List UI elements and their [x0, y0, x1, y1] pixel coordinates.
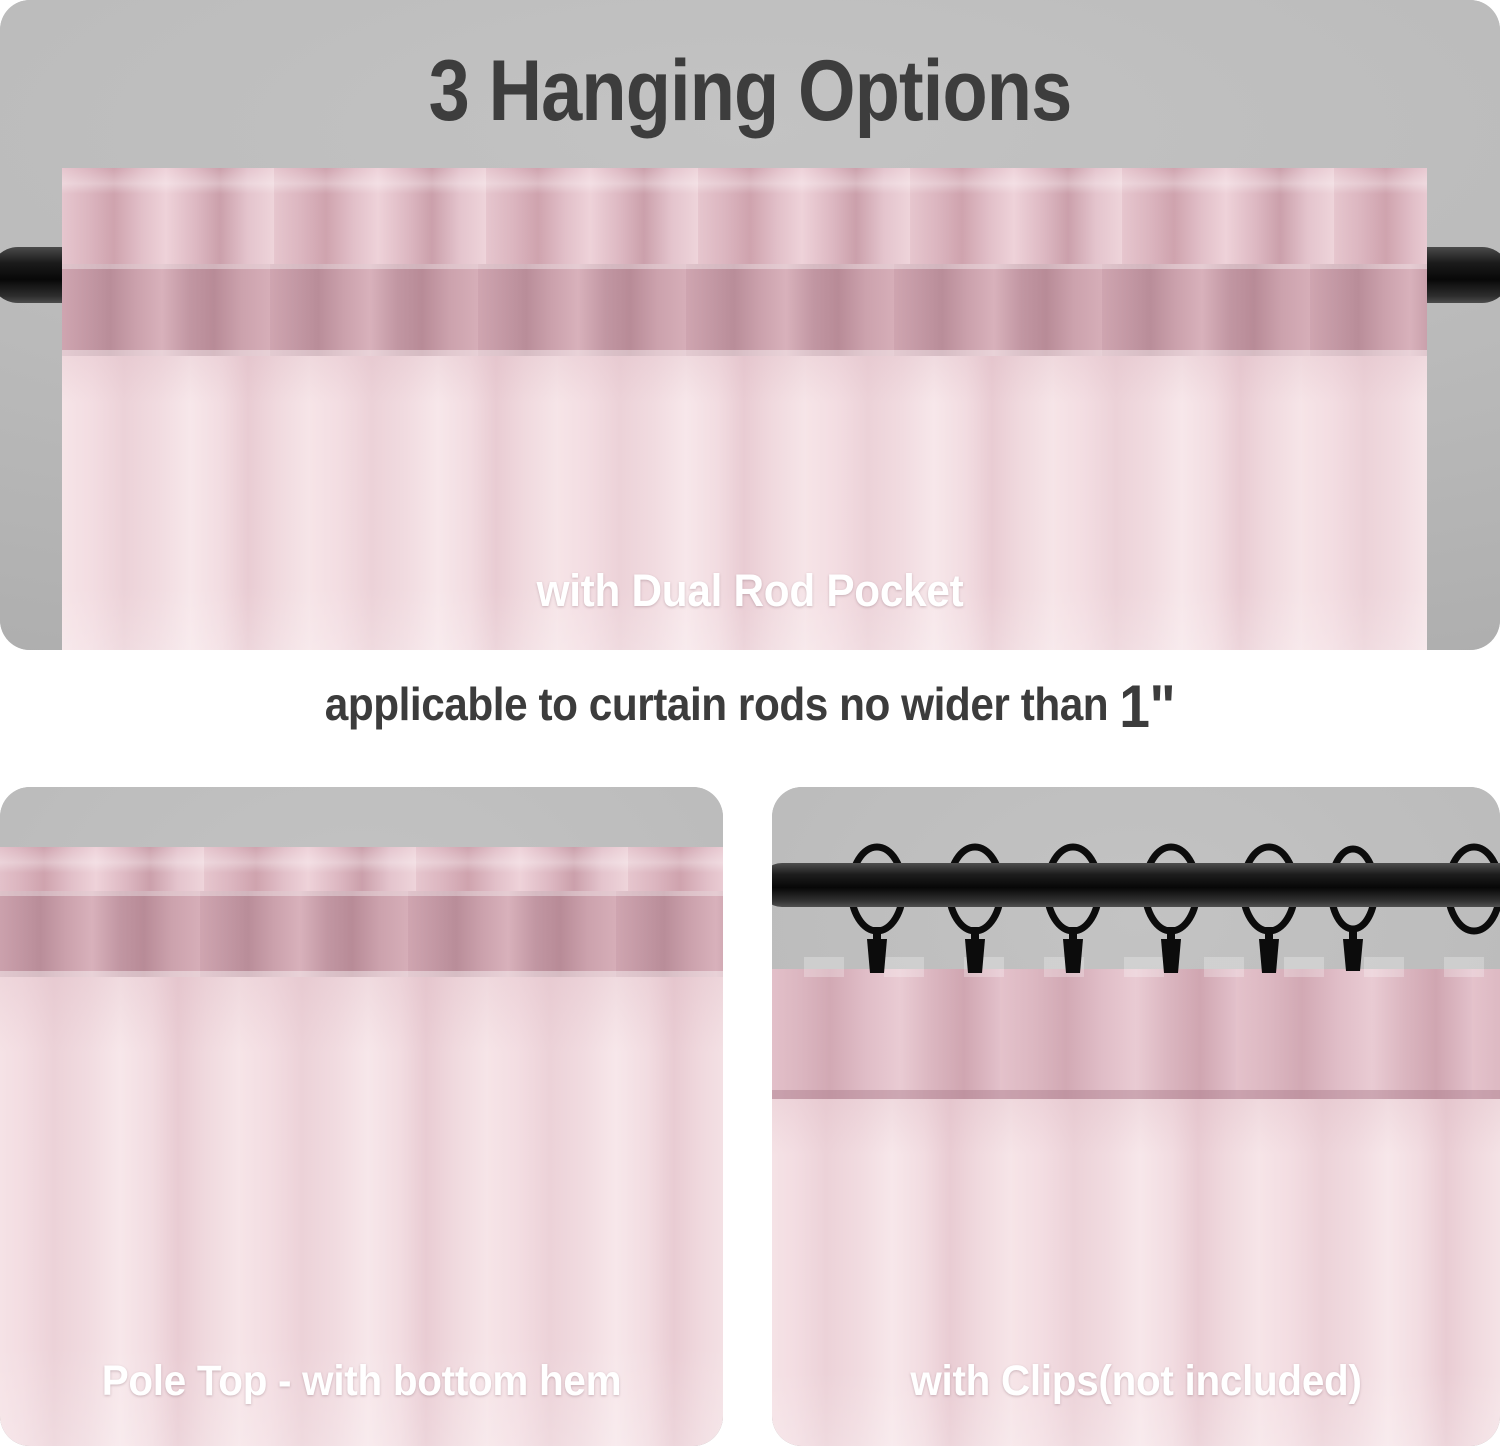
ruffle-top-edge — [0, 847, 723, 873]
curtain-rod-icon — [772, 863, 1500, 907]
rod-pocket-channel — [0, 891, 723, 977]
caption-with-clips: with Clips(not included) — [794, 1357, 1478, 1406]
pole-top-panel — [0, 787, 723, 1446]
caption-dual-rod-pocket: with Dual Rod Pocket — [45, 565, 1455, 617]
caption-pole-top: Pole Top - with bottom hem — [22, 1357, 702, 1406]
product-infographic: with Dual Rod Pocket 3 Hanging Options a… — [0, 0, 1500, 1446]
page-title: 3 Hanging Options — [105, 42, 1395, 141]
clips-panel — [772, 787, 1500, 1446]
curtain-rings-group — [772, 787, 1500, 1087]
ruffle-top-edge — [62, 168, 1427, 194]
rod-pocket-channel — [62, 264, 1427, 356]
caption-applicable-rod-width: applicable to curtain rods no wider than… — [60, 654, 1440, 754]
applicable-measure: 1" — [1119, 677, 1175, 737]
applicable-text: applicable to curtain rods no wider than — [325, 677, 1108, 731]
